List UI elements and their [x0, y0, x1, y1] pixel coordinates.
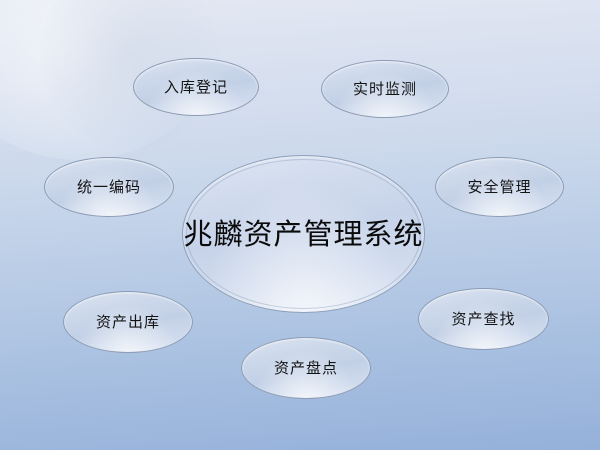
node-zichan-pandian[interactable]: 资产盘点 — [241, 337, 371, 399]
node-label-anquan-guanli: 安全管理 — [467, 180, 531, 195]
node-shishi-jiance[interactable]: 实时监测 — [321, 60, 449, 118]
node-ruku-dengji[interactable]: 入库登记 — [133, 58, 259, 116]
node-zichan-chuku[interactable]: 资产出库 — [63, 291, 193, 353]
node-zichan-chazhao[interactable]: 资产查找 — [418, 288, 549, 350]
node-center-hub[interactable]: 兆麟资产管理系统 — [182, 155, 425, 313]
node-label-zichan-chazhao: 资产查找 — [451, 312, 515, 327]
node-label-tongyi-bianma: 统一编码 — [77, 180, 141, 195]
node-label-shishi-jiance: 实时监测 — [353, 82, 417, 97]
node-label-zichan-chuku: 资产出库 — [96, 315, 160, 330]
center-hub-label: 兆麟资产管理系统 — [183, 220, 423, 249]
diagram-canvas: 入库登记 实时监测 统一编码 安全管理 资产出库 资产查找 资产盘点 兆麟资产管… — [0, 0, 600, 450]
node-tongyi-bianma[interactable]: 统一编码 — [44, 157, 174, 217]
node-label-zichan-pandian: 资产盘点 — [274, 361, 338, 376]
node-label-ruku-dengji: 入库登记 — [164, 80, 228, 95]
node-anquan-guanli[interactable]: 安全管理 — [435, 157, 564, 217]
